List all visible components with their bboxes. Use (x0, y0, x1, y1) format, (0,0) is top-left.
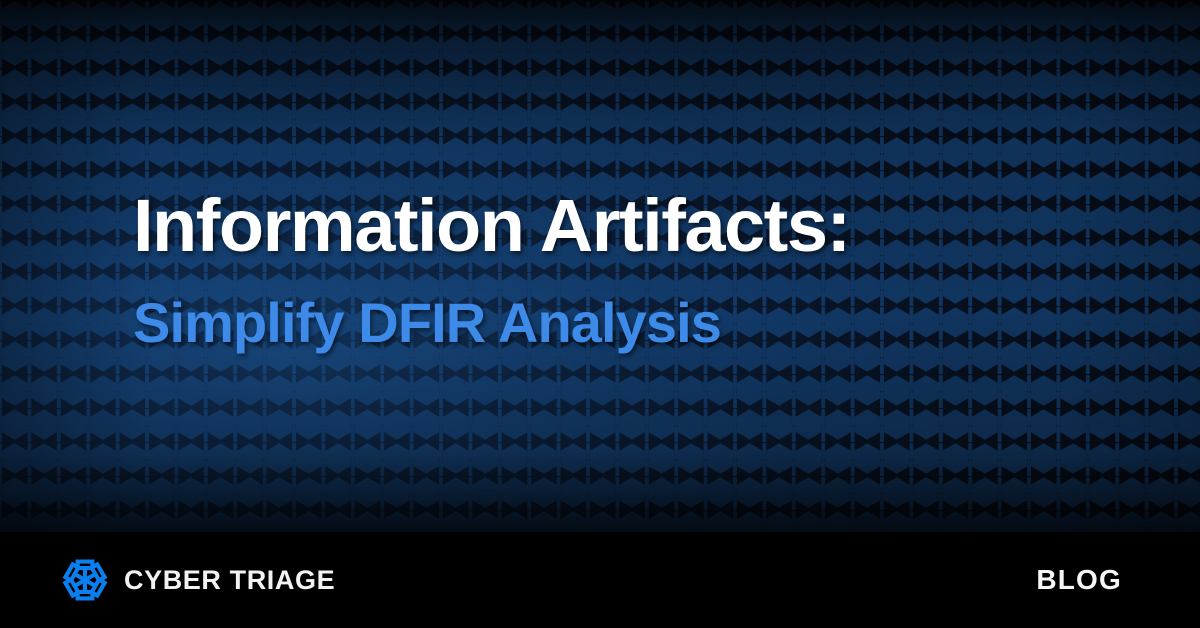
brand-lockup[interactable]: CYBER TRIAGE (62, 557, 335, 603)
headline-block: Information Artifacts: Simplify DFIR Ana… (133, 188, 1113, 353)
brand-name: CYBER TRIAGE (124, 565, 335, 596)
content-category-label: BLOG (1036, 564, 1122, 596)
blog-share-banner: Information Artifacts: Simplify DFIR Ana… (0, 0, 1200, 628)
hero-section: Information Artifacts: Simplify DFIR Ana… (0, 0, 1200, 532)
page-title: Information Artifacts: (133, 188, 1113, 264)
page-subtitle: Simplify DFIR Analysis (133, 294, 1113, 353)
footer-bar: CYBER TRIAGE BLOG (0, 532, 1200, 628)
cyber-triage-pinwheel-icon (62, 557, 108, 603)
